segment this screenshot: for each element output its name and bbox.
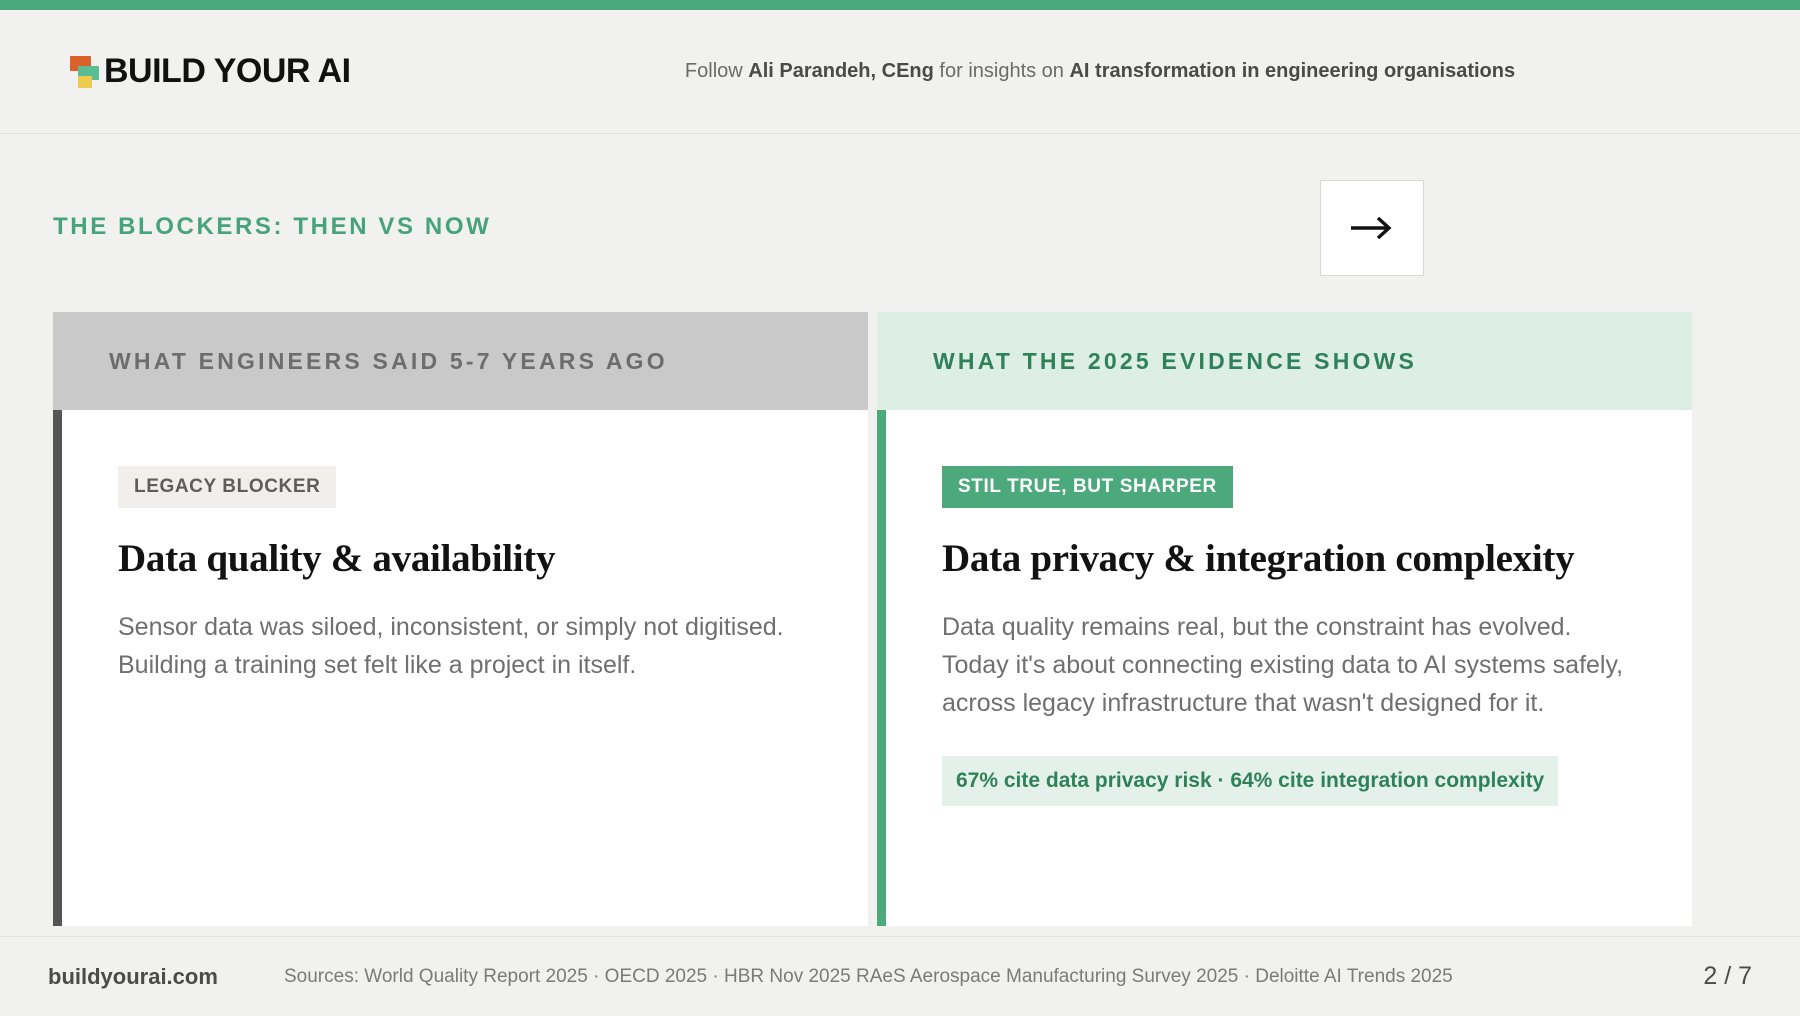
- status-badge-now: STIL TRUE, BUT SHARPER: [942, 466, 1233, 508]
- card-body-legacy: Sensor data was siloed, inconsistent, or…: [118, 608, 808, 684]
- follow-middle: for insights on: [934, 60, 1070, 82]
- column-header-now: WHAT THE 2025 EVIDENCE SHOWS: [877, 312, 1692, 410]
- follow-prefix: Follow: [685, 60, 748, 82]
- card-legacy: LEGACY BLOCKER Data quality & availabili…: [53, 410, 868, 926]
- brand: BUILD YOUR AI: [70, 52, 351, 91]
- section-row: THE BLOCKERS: THEN VS NOW: [0, 180, 1800, 290]
- brand-name: BUILD YOUR AI: [104, 52, 351, 91]
- page-header: BUILD YOUR AI Follow Ali Parandeh, CEng …: [0, 10, 1800, 134]
- column-header-legacy: WHAT ENGINEERS SAID 5-7 YEARS AGO: [53, 312, 868, 410]
- page-footer: buildyourai.com Sources: World Quality R…: [0, 936, 1800, 1016]
- arrow-right-icon: [1349, 215, 1395, 241]
- stacked-squares-logo-icon: [70, 56, 100, 88]
- page-indicator: 2 / 7: [1703, 962, 1752, 991]
- header-follow-text: Follow Ali Parandeh, CEng for insights o…: [685, 60, 1515, 83]
- follow-person: Ali Parandeh, CEng: [748, 60, 934, 82]
- comparison-columns: WHAT ENGINEERS SAID 5-7 YEARS AGO LEGACY…: [53, 312, 1693, 926]
- footer-sources: Sources: World Quality Report 2025 · OEC…: [284, 966, 1453, 988]
- card-now: STIL TRUE, BUT SHARPER Data privacy & in…: [877, 410, 1692, 926]
- column-legacy: WHAT ENGINEERS SAID 5-7 YEARS AGO LEGACY…: [53, 312, 868, 926]
- next-slide-button[interactable]: [1320, 180, 1424, 276]
- footer-site-name[interactable]: buildyourai.com: [48, 964, 218, 990]
- card-body-now: Data quality remains real, but the const…: [942, 608, 1632, 722]
- card-title-now: Data privacy & integration complexity: [942, 536, 1636, 581]
- top-accent-bar: [0, 0, 1800, 10]
- status-badge-legacy: LEGACY BLOCKER: [118, 466, 336, 508]
- page-title: THE BLOCKERS: THEN VS NOW: [53, 213, 491, 241]
- follow-topic: AI transformation in engineering organis…: [1069, 60, 1515, 82]
- column-now: WHAT THE 2025 EVIDENCE SHOWS STIL TRUE, …: [877, 312, 1692, 926]
- stat-highlight: 67% cite data privacy risk · 64% cite in…: [942, 756, 1558, 806]
- card-title-legacy: Data quality & availability: [118, 536, 812, 581]
